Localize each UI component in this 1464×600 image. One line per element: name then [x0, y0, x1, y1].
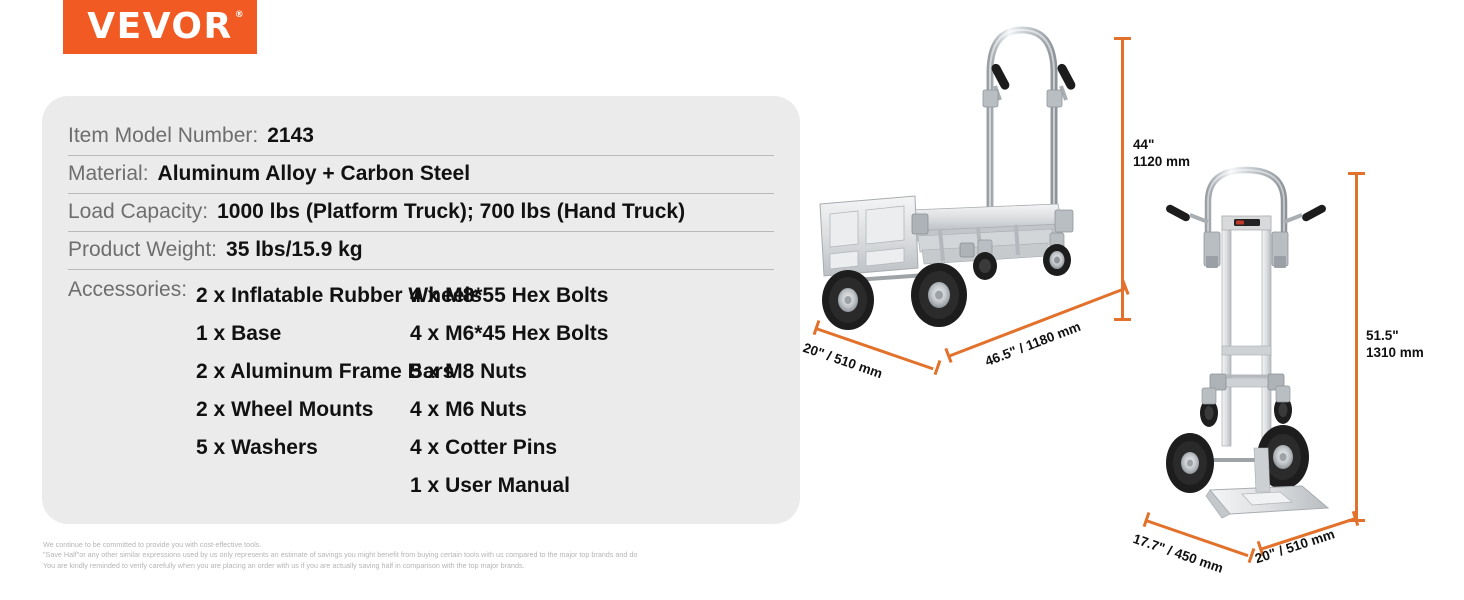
dimension-value-imperial: 44" [1133, 136, 1190, 153]
dimension-value-metric: 1120 mm [1133, 153, 1190, 170]
accessory-item: 2 x Wheel Mounts [196, 391, 410, 429]
dimension-label-handtruck-height: 51.5" 1310 mm [1366, 327, 1424, 361]
accessory-item: 1 x User Manual [410, 467, 670, 505]
accessory-item: 2 x Aluminum Frame Bars [196, 353, 410, 391]
accessories-column-right: 4 x M8*55 Hex Bolts 4 x M6*45 Hex Bolts … [410, 277, 670, 505]
spec-row-product-weight: Product Weight: 35 lbs/15.9 kg [68, 232, 774, 270]
vevor-logo: VEVOR ® [63, 0, 257, 54]
dimension-tick-platform-width-end [934, 360, 941, 375]
dimension-label-handtruck-depth: 17.7" / 450 mm [1131, 531, 1225, 576]
spec-label-load-capacity: Load Capacity: [68, 200, 208, 224]
dimension-label-platform-height: 44" 1120 mm [1133, 136, 1190, 170]
spec-label-model: Item Model Number: [68, 124, 258, 148]
accessory-item: 5 x M8 Nuts [410, 353, 670, 391]
spec-row-material: Material: Aluminum Alloy + Carbon Steel [68, 156, 774, 194]
accessory-item: 4 x Cotter Pins [410, 429, 670, 467]
accessories-columns: 2 x Inflatable Rubber Wheels 1 x Base 2 … [196, 277, 670, 505]
accessory-item: 2 x Inflatable Rubber Wheels [196, 277, 410, 315]
disclaimer-line-3: You are kindly reminded to verify carefu… [43, 561, 833, 571]
spec-value-material: Aluminum Alloy + Carbon Steel [158, 162, 471, 186]
dimension-cap-top-handtruck [1348, 172, 1365, 175]
disclaimer-text: We continue to be committed to provide y… [43, 540, 833, 571]
disclaimer-line-1: We continue to be committed to provide y… [43, 540, 833, 550]
logo-wordmark-wrap: VEVOR ® [87, 9, 233, 45]
spec-value-product-weight: 35 lbs/15.9 kg [226, 238, 363, 262]
logo-wordmark: VEVOR [87, 6, 233, 47]
spec-label-material: Material: [68, 162, 149, 186]
accessory-item: 4 x M6*45 Hex Bolts [410, 315, 670, 353]
spec-label-product-weight: Product Weight: [68, 238, 217, 262]
accessory-item: 4 x M8*55 Hex Bolts [410, 277, 670, 315]
accessories-column-left: 2 x Inflatable Rubber Wheels 1 x Base 2 … [196, 277, 410, 505]
product-spec-page: VEVOR ® Item Model Number: 2143 Material… [0, 0, 1464, 600]
product-image-platform-truck [800, 18, 1120, 348]
spec-value-model: 2143 [267, 124, 314, 148]
disclaimer-line-2: "Save Half"or any other similar expressi… [43, 550, 833, 560]
accessory-item: 1 x Base [196, 315, 410, 353]
spec-value-load-capacity: 1000 lbs (Platform Truck); 700 lbs (Hand… [217, 200, 685, 224]
dimension-cap-bottom-platform [1114, 318, 1131, 321]
dimension-line-platform-height [1121, 38, 1124, 320]
product-image-hand-truck [1150, 160, 1380, 530]
dimension-value-imperial: 51.5" [1366, 327, 1424, 344]
dimension-cap-top-platform [1114, 37, 1131, 40]
dimension-value-metric: 1310 mm [1366, 344, 1424, 361]
spec-row-model: Item Model Number: 2143 [68, 118, 774, 156]
registered-trademark-icon: ® [235, 10, 244, 20]
accessory-item: 5 x Washers [196, 429, 410, 467]
specifications-panel: Item Model Number: 2143 Material: Alumin… [42, 96, 800, 524]
dimension-line-handtruck-height [1355, 173, 1358, 521]
spec-label-accessories: Accessories: [68, 277, 187, 302]
accessory-item: 4 x M6 Nuts [410, 391, 670, 429]
spec-row-load-capacity: Load Capacity: 1000 lbs (Platform Truck)… [68, 194, 774, 232]
spec-row-accessories: Accessories: 2 x Inflatable Rubber Wheel… [68, 270, 774, 505]
